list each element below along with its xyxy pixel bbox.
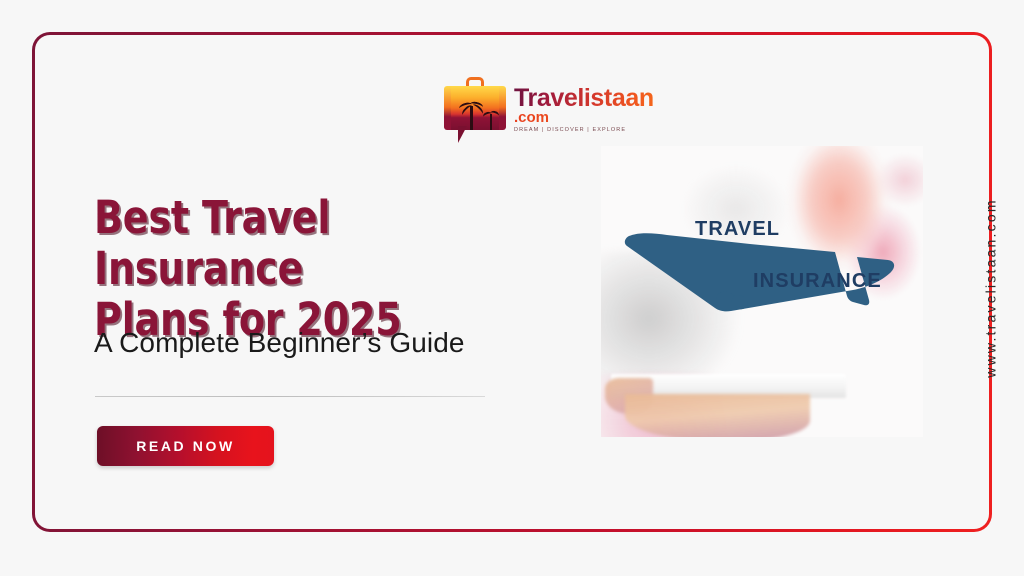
page-subtitle: A Complete Beginner’s Guide xyxy=(94,327,465,359)
photo-keyword-insurance: INSURANCE xyxy=(753,270,882,293)
suitcase-palm-tree-logo-icon xyxy=(444,74,506,146)
horizontal-divider xyxy=(95,396,485,397)
brand-name: Travelistaan xyxy=(514,86,654,111)
blurred-hand-bottom xyxy=(625,394,810,437)
hero-image: TRAVEL INSURANCE xyxy=(601,146,923,437)
suitcase-strap-right-icon xyxy=(499,86,506,130)
vertical-website-url[interactable]: www.travelistaan.com xyxy=(979,138,1003,438)
vertical-url-text: www.travelistaan.com xyxy=(983,198,999,377)
brand-wordmark: Travelistaan .com DREAM | DISCOVER | EXP… xyxy=(514,86,654,134)
travel-insurance-banner: Travelistaan .com DREAM | DISCOVER | EXP… xyxy=(0,0,1024,576)
suitcase-body-icon xyxy=(446,86,504,130)
brand-domain: .com xyxy=(514,110,654,125)
page-title: Best Travel Insurance Plans for 2025 xyxy=(94,193,536,346)
brand-tagline: DREAM | DISCOVER | EXPLORE xyxy=(514,128,654,134)
brand-logo[interactable]: Travelistaan .com DREAM | DISCOVER | EXP… xyxy=(444,74,654,146)
read-now-button[interactable]: READ NOW xyxy=(97,426,274,466)
suitcase-strap-left-icon xyxy=(444,86,451,130)
headline-line-1: Best Travel Insurance xyxy=(94,193,536,295)
speech-bubble-tail-icon xyxy=(458,126,467,143)
photo-keyword-travel: TRAVEL xyxy=(695,218,780,241)
